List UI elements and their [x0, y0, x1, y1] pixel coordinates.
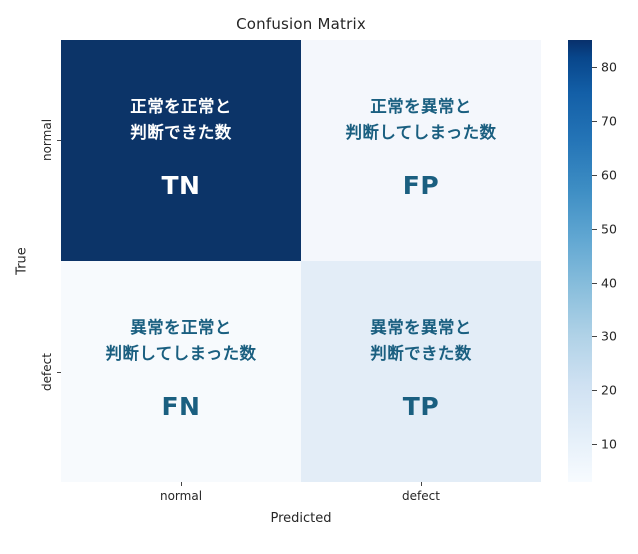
y-axis-label: True — [15, 247, 30, 275]
colorbar — [568, 40, 592, 482]
matrix-cell-tn-code: TN — [162, 171, 201, 200]
colorbar-tick-label-70: 70 — [601, 113, 617, 128]
y-tick-label-normal: normal — [40, 119, 54, 161]
colorbar-tick-label-80: 80 — [601, 59, 617, 74]
matrix-cell-tp-code: TP — [403, 392, 439, 421]
colorbar-gradient — [568, 40, 592, 482]
colorbar-tick-label-50: 50 — [601, 221, 617, 236]
colorbar-tick-mark-50 — [592, 229, 597, 230]
colorbar-tick-label-60: 60 — [601, 167, 617, 182]
y-tick-label-defect: defect — [40, 353, 54, 391]
matrix-cell-fn-description: 異常を正常と 判断してしまった数 — [106, 315, 257, 366]
matrix-cell-tp-description: 異常を異常と 判断できた数 — [370, 315, 471, 366]
matrix-cell-fp-code: FP — [403, 171, 439, 200]
matrix-cell-fn-code: FN — [161, 392, 200, 421]
colorbar-tick-mark-20 — [592, 390, 597, 391]
colorbar-tick-mark-30 — [592, 336, 597, 337]
y-tick-mark-defect — [57, 372, 61, 373]
x-axis-label: Predicted — [61, 511, 541, 526]
colorbar-tick-label-20: 20 — [601, 383, 617, 398]
colorbar-tick-label-10: 10 — [601, 437, 617, 452]
colorbar-tick-mark-70 — [592, 121, 597, 122]
matrix-cell-tn: 正常を正常と 判断できた数 TN — [61, 40, 301, 261]
x-tick-label-defect: defect — [402, 489, 440, 503]
x-tick-mark-defect — [421, 482, 422, 486]
colorbar-tick-label-40: 40 — [601, 275, 617, 290]
matrix-cell-fn: 異常を正常と 判断してしまった数 FN — [61, 261, 301, 482]
confusion-matrix-heatmap: 正常を正常と 判断できた数 TN 正常を異常と 判断してしまった数 FP 異常を… — [61, 40, 541, 482]
x-tick-mark-normal — [181, 482, 182, 486]
matrix-cell-fp-description: 正常を異常と 判断してしまった数 — [346, 94, 497, 145]
colorbar-tick-mark-10 — [592, 444, 597, 445]
matrix-cell-fp: 正常を異常と 判断してしまった数 FP — [301, 40, 541, 261]
colorbar-tick-mark-80 — [592, 67, 597, 68]
matrix-cell-tp: 異常を異常と 判断できた数 TP — [301, 261, 541, 482]
page-title: Confusion Matrix — [61, 15, 541, 33]
colorbar-tick-label-30: 30 — [601, 329, 617, 344]
colorbar-tick-mark-60 — [592, 175, 597, 176]
y-tick-mark-normal — [57, 140, 61, 141]
x-tick-label-normal: normal — [160, 489, 202, 503]
colorbar-tick-mark-40 — [592, 283, 597, 284]
matrix-cell-tn-description: 正常を正常と 判断できた数 — [130, 94, 231, 145]
